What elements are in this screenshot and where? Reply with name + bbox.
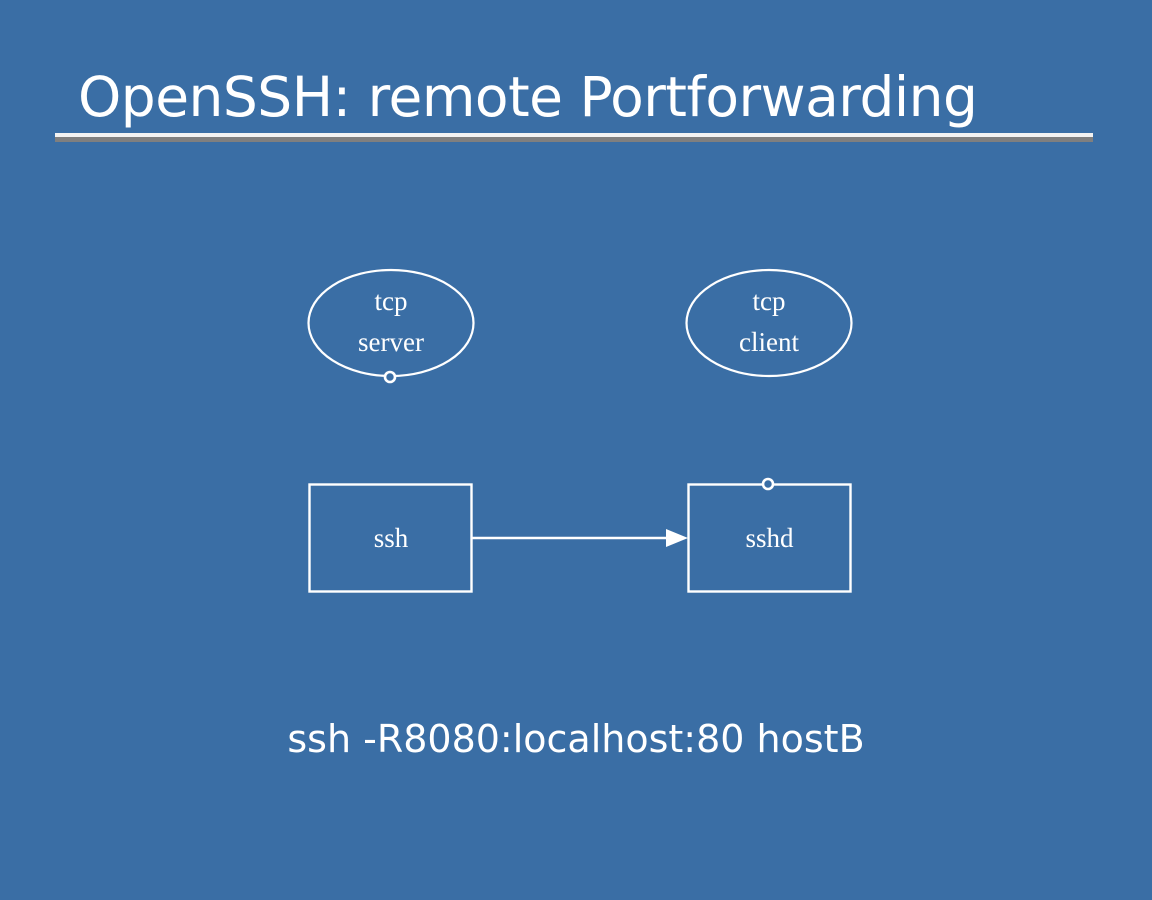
slide-canvas: OpenSSH: remote Portforwarding tcp serve… (0, 0, 1152, 900)
port-marker-icon-sshd[interactable] (763, 479, 773, 489)
node-sshd[interactable] (689, 485, 851, 592)
arrowhead-icon-ssh-to-sshd (666, 529, 688, 547)
node-ssh[interactable] (310, 485, 472, 592)
command-caption: ssh -R8080:localhost:80 hostB (0, 714, 1152, 764)
node-tcp-client[interactable] (687, 270, 852, 376)
port-marker-icon-tcp-server[interactable] (385, 372, 395, 382)
node-tcp-server[interactable] (309, 270, 474, 376)
network-diagram (0, 0, 1152, 900)
